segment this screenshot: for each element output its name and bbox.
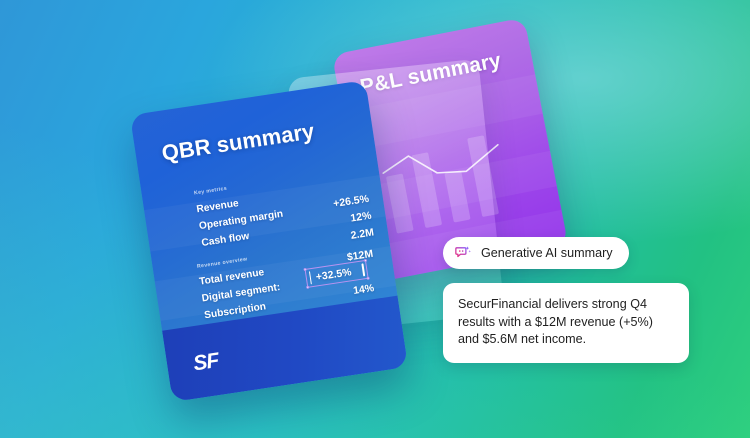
generative-ai-summary-pill[interactable]: Generative AI summary (443, 237, 629, 269)
metric-value-subscription: 14% (352, 282, 375, 297)
selection-caret-left[interactable] (308, 271, 311, 284)
selection-caret-right[interactable] (361, 263, 364, 276)
section-label-key-metrics: Key metrics (194, 186, 228, 197)
generative-ai-summary-text: SecurFinancial delivers strong Q4 result… (458, 296, 674, 349)
generative-ai-chat-icon (455, 245, 472, 262)
qbr-card-title: QBR summary (160, 118, 316, 166)
card-qbr-summary[interactable]: QBR summary Key metrics Revenue +26.5% O… (130, 80, 408, 402)
canvas: P&L summary QBR summary Key metrics Reve… (0, 0, 750, 438)
selection-handle-top-left[interactable] (303, 268, 307, 272)
brand-logo-sf: SF (192, 349, 221, 376)
metric-value-cash-flow: 2.2M (350, 226, 375, 241)
generative-ai-summary-box[interactable]: SecurFinancial delivers strong Q4 result… (443, 283, 689, 363)
metric-value-operating-margin: 12% (350, 210, 373, 225)
generative-ai-pill-label: Generative AI summary (481, 246, 613, 260)
